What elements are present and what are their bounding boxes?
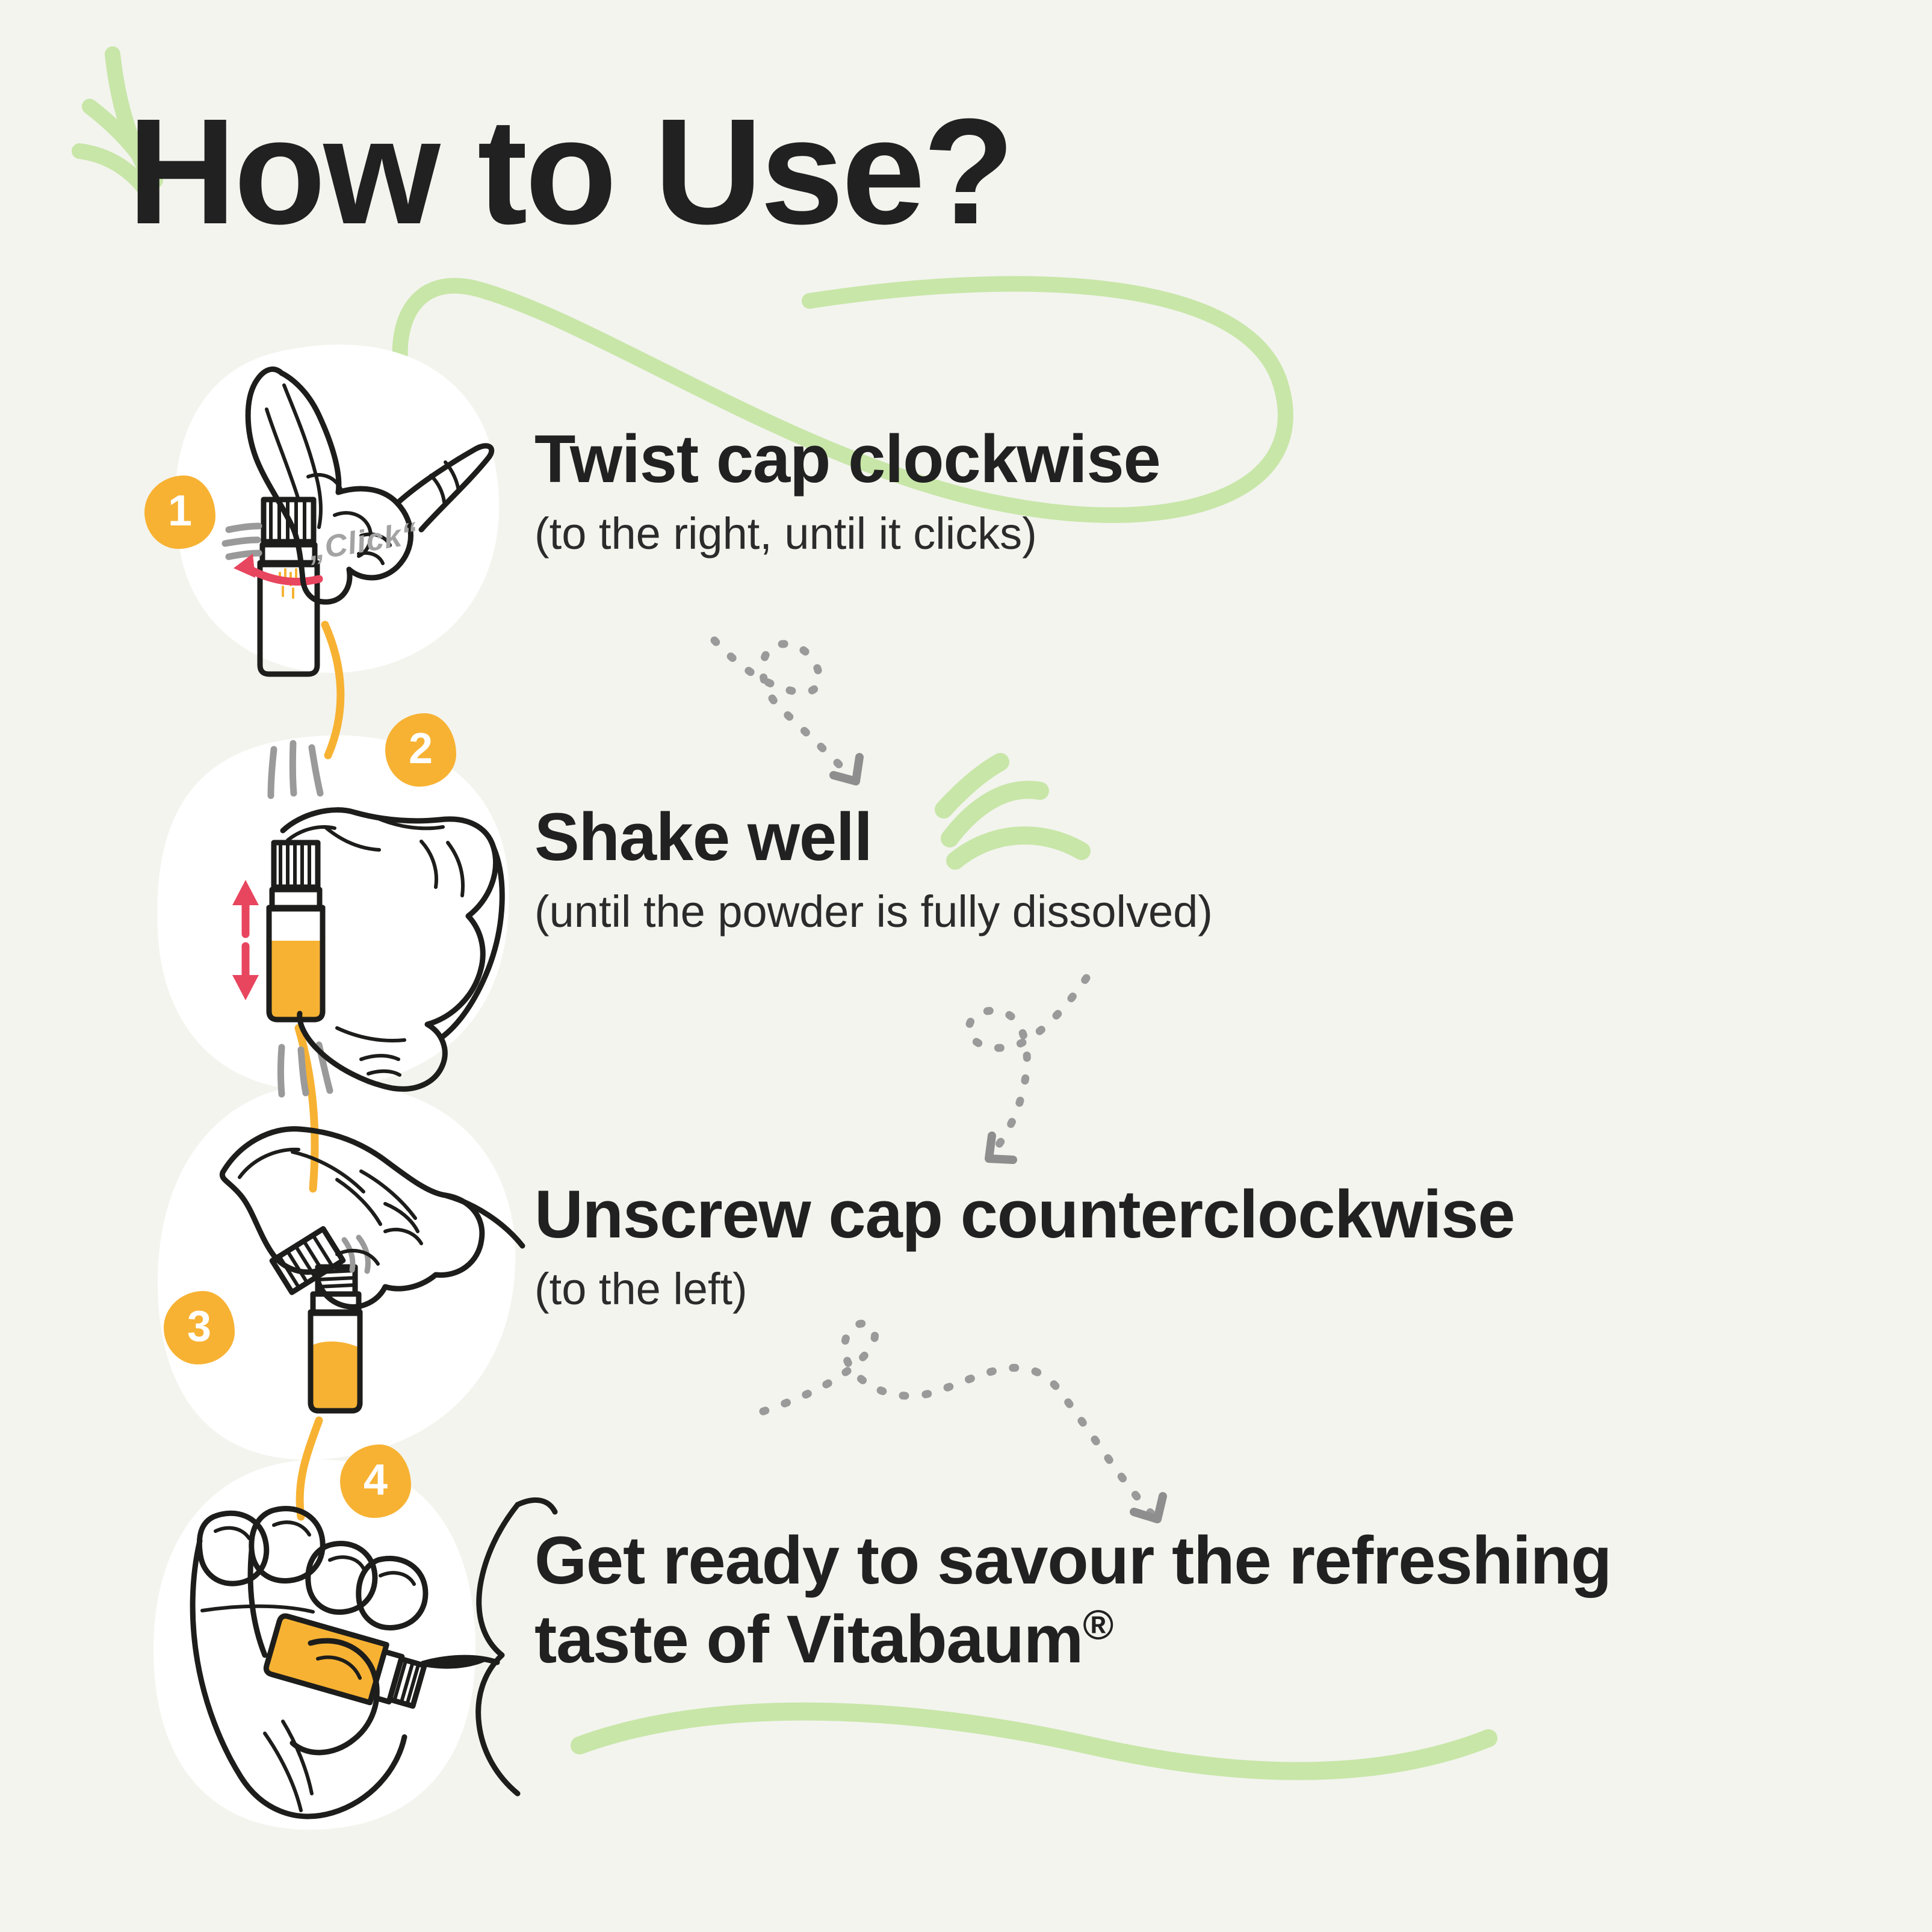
step-badge-2: 2 [385,713,456,787]
step-badge-1-number: 1 [168,489,192,533]
step-badge-2-number: 2 [409,727,433,770]
step-heading-2: Shake well [534,799,1213,876]
step-badge-3: 3 [164,1291,235,1364]
step-badge-4: 4 [340,1444,411,1518]
step-heading-4-line1: Get ready to savour the refreshing [534,1523,1611,1599]
step-badge-1: 1 [144,475,215,549]
step-heading-3: Unscrew cap counterclockwise [534,1177,1514,1253]
registered-trademark-icon: ® [1083,1601,1113,1648]
infographic-canvas: .gn{fill:none;stroke:#c8e6a8;stroke-line… [0,0,1932,1932]
step-text-1: Twist cap clockwise (to the right, until… [534,421,1160,560]
step-heading-4-text: taste of Vitabaum [534,1602,1083,1677]
step-badge-3-number: 3 [187,1305,211,1348]
step-subtext-2: (until the powder is fully dissolved) [534,885,1213,939]
step-illustration-blobs [153,344,515,1830]
step-subtext-3: (to the left) [534,1263,1514,1316]
dotted-loop-arrow [714,640,1163,1519]
step-text-2: Shake well (until the powder is fully di… [534,799,1213,938]
step-text-3: Unscrew cap counterclockwise (to the lef… [534,1177,1514,1316]
page-title: How to Use? [128,96,1012,247]
step-text-4: Get ready to savour the refreshing taste… [534,1523,1611,1677]
step-heading-4-line2: taste of Vitabaum® [534,1602,1611,1678]
step-heading-1: Twist cap clockwise [534,421,1160,498]
green-bottom-underline [580,1712,1488,1771]
step-subtext-1: (to the right, until it clicks) [534,507,1160,561]
step-badge-4-number: 4 [364,1458,388,1502]
